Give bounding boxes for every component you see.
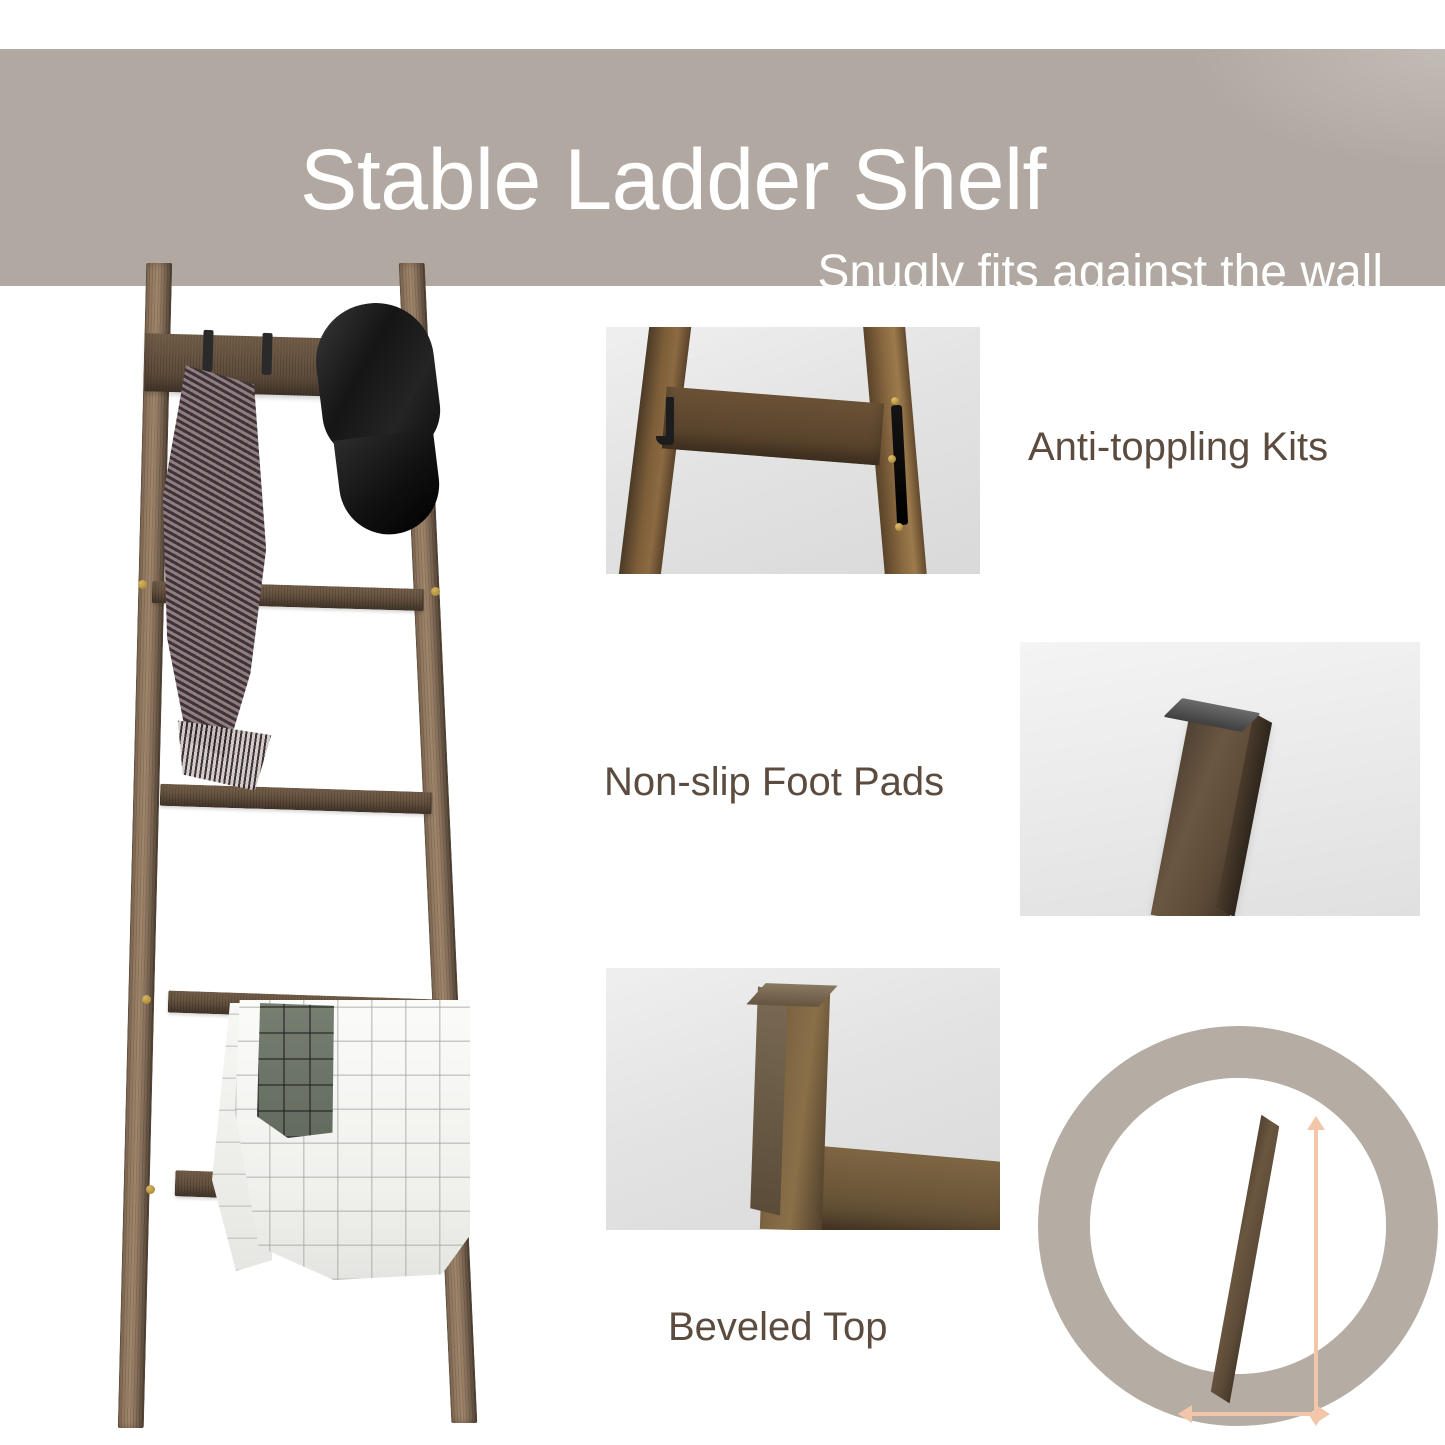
photo-coat-hook-icon <box>666 397 674 445</box>
brass-screw-icon <box>431 587 440 596</box>
brass-screw-icon <box>138 580 147 589</box>
page-title: Stable Ladder Shelf <box>300 137 1046 223</box>
brass-screw-icon <box>142 995 151 1004</box>
ladder-rail-left <box>118 263 172 1428</box>
coat-hook-icon <box>261 333 272 375</box>
dimension-diagram <box>1038 1026 1438 1426</box>
photo-ladder-shelf <box>808 1145 1000 1230</box>
brass-screw-icon <box>888 455 896 463</box>
gray-grid-towel <box>257 1003 334 1138</box>
ladder-rung <box>160 784 433 815</box>
feature-label-beveled-top: Beveled Top <box>668 1305 887 1349</box>
brass-screw-icon <box>891 397 899 405</box>
brass-screw-icon <box>146 1185 155 1194</box>
coat-hook-icon <box>202 330 213 372</box>
feature-label-foot-pads: Non-slip Foot Pads <box>604 760 944 804</box>
black-hat <box>301 296 458 540</box>
feature-label-anti-toppling: Anti-toppling Kits <box>1028 425 1328 469</box>
brass-screw-icon <box>895 523 903 531</box>
beveled-top-photo <box>606 968 1000 1230</box>
width-dimension-arrow <box>1190 1412 1318 1416</box>
height-dimension-arrow <box>1314 1128 1318 1414</box>
anti-toppling-kit-photo <box>606 327 980 574</box>
non-slip-foot-pad-photo <box>1020 642 1420 916</box>
header-banner: Stable Ladder Shelf Snugly fits against … <box>0 49 1445 286</box>
hat-brim <box>333 429 444 540</box>
photo-ladder-rail-left <box>618 327 692 574</box>
ladder-shelf-product-photo <box>60 255 560 1445</box>
photo-ladder-shelf <box>662 387 884 466</box>
page-subtitle: Snugly fits against the wall <box>817 249 1383 297</box>
throw-fringe <box>165 720 276 793</box>
